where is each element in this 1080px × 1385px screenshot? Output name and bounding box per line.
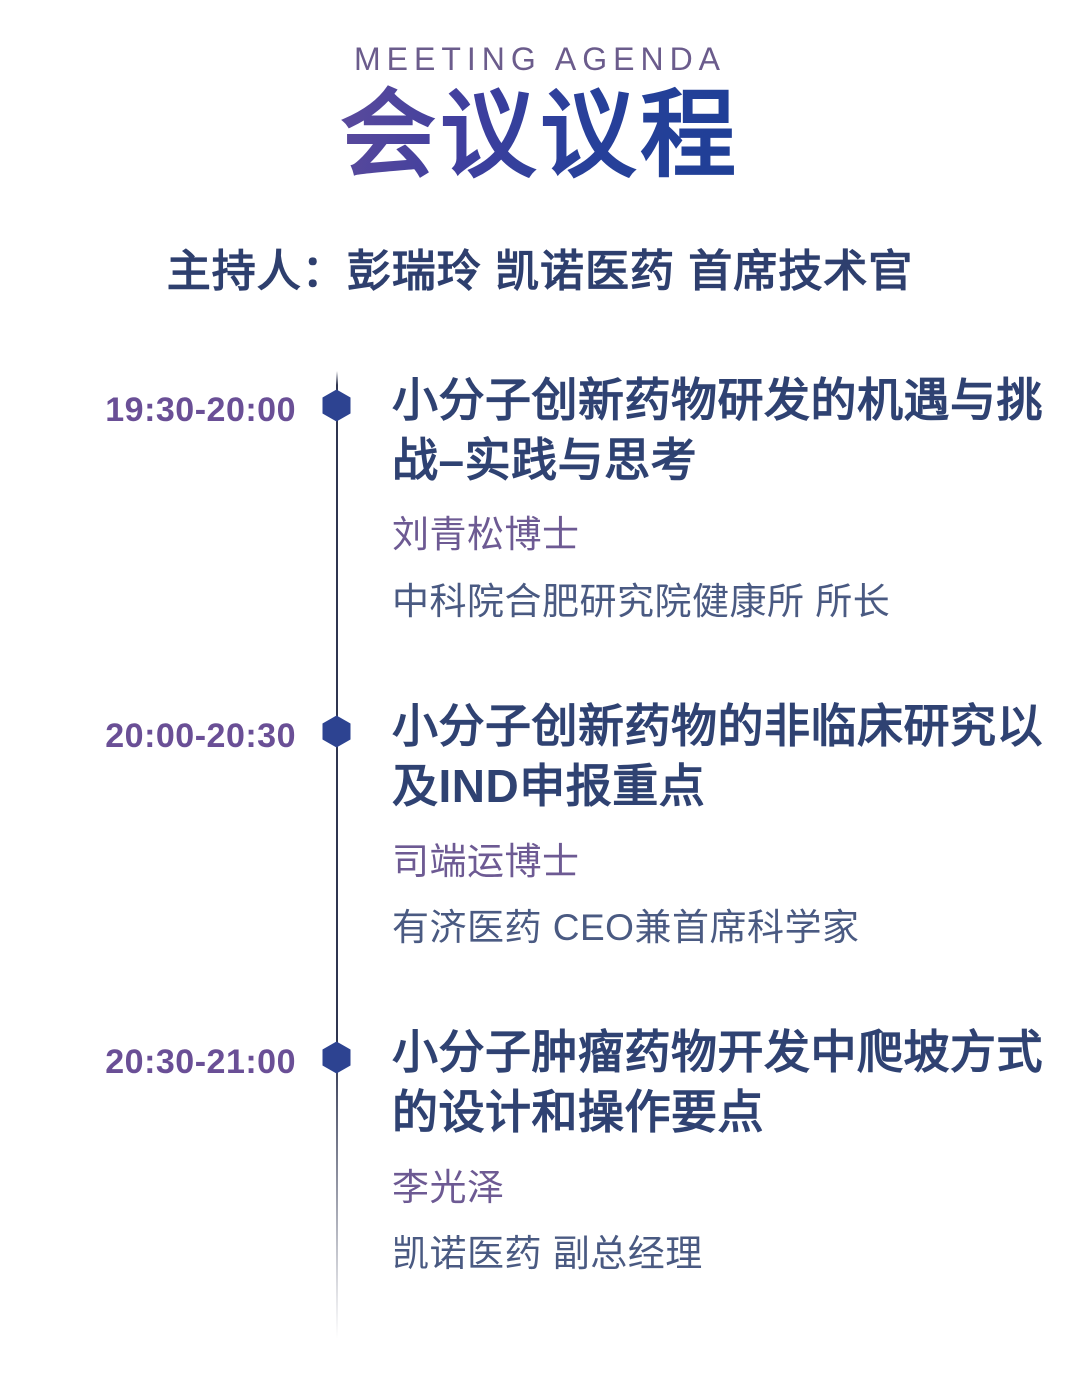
host-label: 主持人：彭瑞玲 凯诺医药 首席技术官 bbox=[167, 246, 913, 299]
agenda-item-speaker: 司端运博士 bbox=[392, 839, 1050, 885]
agenda-item-affiliation: 凯诺医药 副总经理 bbox=[392, 1231, 1050, 1277]
kicker-label: MEETING AGENDA bbox=[0, 40, 1080, 78]
hexagon-marker-icon bbox=[322, 1041, 351, 1074]
agenda-item-title: 小分子创新药物的非临床研究以及IND申报重点 bbox=[392, 697, 1050, 817]
agenda-item-body: 小分子创新药物的非临床研究以及IND申报重点 司端运博士 有济医药 CEO兼首席… bbox=[392, 697, 1080, 951]
agenda-item-speaker: 刘青松博士 bbox=[392, 512, 1050, 558]
agenda-item-time: 20:30-21:00 bbox=[0, 1045, 296, 1079]
page-title: 会议议程 bbox=[340, 84, 740, 188]
host-row: 主持人：彭瑞玲 凯诺医药 首席技术官 bbox=[0, 246, 1080, 299]
agenda-item-body: 小分子肿瘤药物开发中爬坡方式的设计和操作要点 李光泽 凯诺医药 副总经理 bbox=[392, 1023, 1080, 1277]
agenda-item-time: 19:30-20:00 bbox=[0, 393, 296, 427]
poster-header: MEETING AGENDA 会议议程 bbox=[0, 0, 1080, 188]
agenda-poster: MEETING AGENDA 会议议程 主持人：彭瑞玲 凯诺医药 首席技术官 1… bbox=[0, 0, 1080, 1297]
agenda-item-affiliation: 中科院合肥研究院健康所 所长 bbox=[392, 579, 1050, 625]
agenda-item: 20:00-20:30 小分子创新药物的非临床研究以及IND申报重点 司端运博士… bbox=[0, 697, 1080, 951]
hexagon-marker-icon bbox=[322, 715, 351, 748]
agenda-item-time: 20:00-20:30 bbox=[0, 719, 296, 753]
agenda-item-title: 小分子肿瘤药物开发中爬坡方式的设计和操作要点 bbox=[392, 1023, 1050, 1143]
agenda-item-body: 小分子创新药物研发的机遇与挑战–实践与思考 刘青松博士 中科院合肥研究院健康所 … bbox=[392, 371, 1080, 625]
agenda-item: 19:30-20:00 小分子创新药物研发的机遇与挑战–实践与思考 刘青松博士 … bbox=[0, 371, 1080, 625]
agenda-timeline: 19:30-20:00 小分子创新药物研发的机遇与挑战–实践与思考 刘青松博士 … bbox=[0, 371, 1080, 1297]
agenda-item-affiliation: 有济医药 CEO兼首席科学家 bbox=[392, 905, 1050, 951]
agenda-item-title: 小分子创新药物研发的机遇与挑战–实践与思考 bbox=[392, 371, 1050, 491]
agenda-item-speaker: 李光泽 bbox=[392, 1165, 1050, 1211]
agenda-item: 20:30-21:00 小分子肿瘤药物开发中爬坡方式的设计和操作要点 李光泽 凯… bbox=[0, 1023, 1080, 1277]
hexagon-marker-icon bbox=[322, 389, 351, 422]
